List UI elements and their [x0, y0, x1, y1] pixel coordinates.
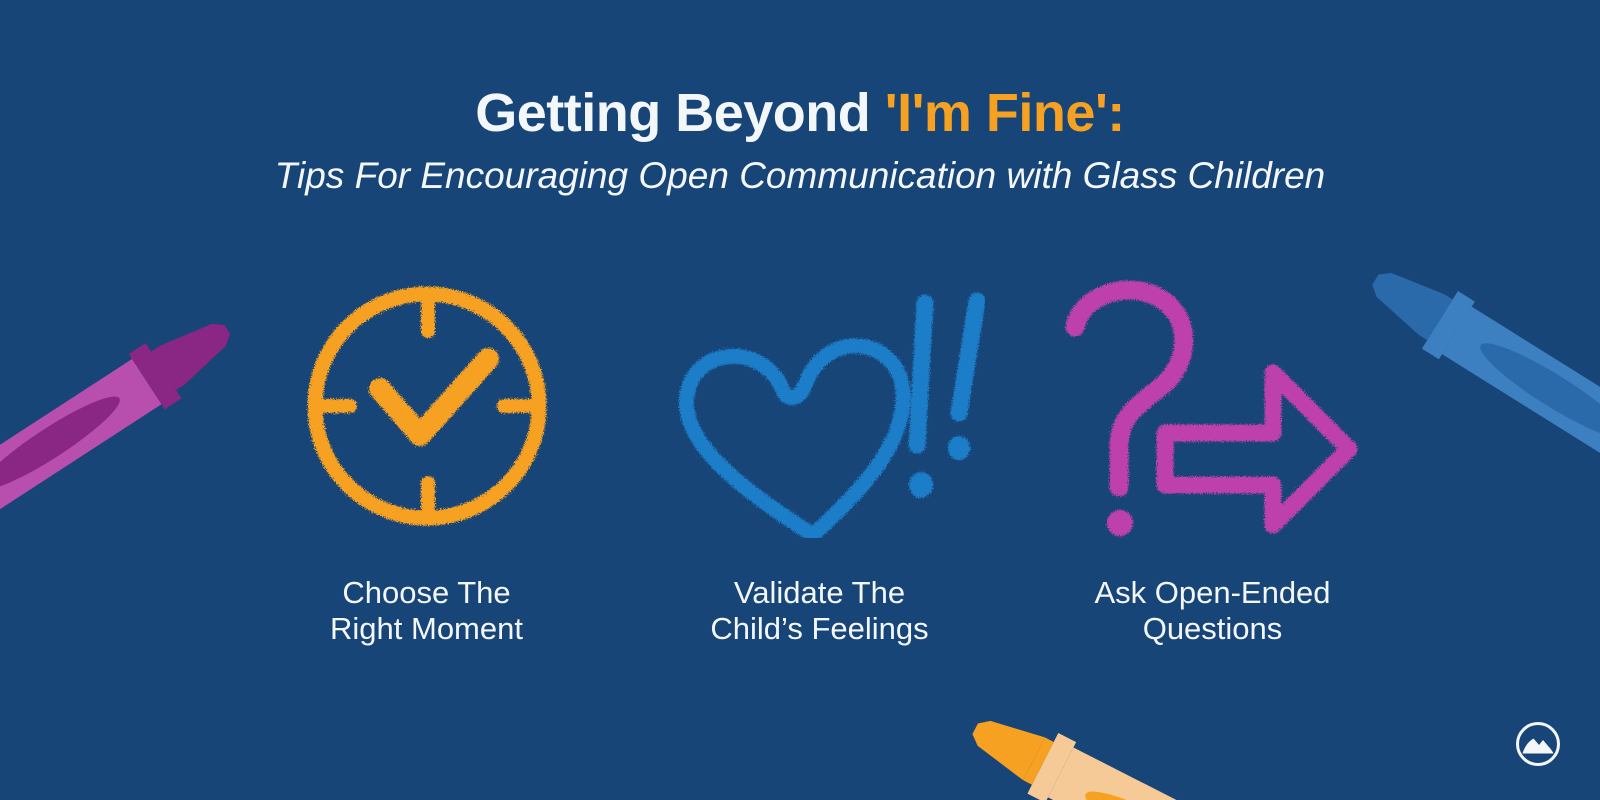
crayon-purple — [0, 289, 257, 525]
feature-choose-the-right-moment: Choose The Right Moment — [230, 270, 623, 648]
title-accent-part: 'I'm Fine': — [885, 83, 1125, 143]
mountain-logo[interactable] — [1514, 720, 1562, 768]
page-subtitle: Tips For Encouraging Open Communication … — [0, 157, 1600, 194]
infographic-canvas: Getting Beyond 'I'm Fine': Tips For Enco… — [0, 0, 1600, 800]
heart-exclamation-icon — [655, 270, 985, 540]
question-arrow-icon — [1048, 270, 1378, 540]
headline-block: Getting Beyond 'I'm Fine': Tips For Enco… — [0, 86, 1600, 194]
feature-label: Choose The Right Moment — [330, 575, 523, 648]
page-title: Getting Beyond 'I'm Fine': — [0, 86, 1600, 140]
feature-label: Validate The Child’s Feelings — [710, 575, 928, 648]
clock-icon — [262, 270, 592, 540]
crayon-orange — [948, 686, 1255, 800]
feature-label: Ask Open-Ended Questions — [1094, 575, 1330, 648]
feature-ask-open-ended-questions: Ask Open-Ended Questions — [1016, 270, 1409, 648]
feature-row: Choose The Right Moment — [230, 270, 1410, 648]
feature-validate-the-childs-feelings: Validate The Child’s Feelings — [623, 270, 1016, 648]
title-white-part: Getting Beyond — [475, 83, 885, 143]
